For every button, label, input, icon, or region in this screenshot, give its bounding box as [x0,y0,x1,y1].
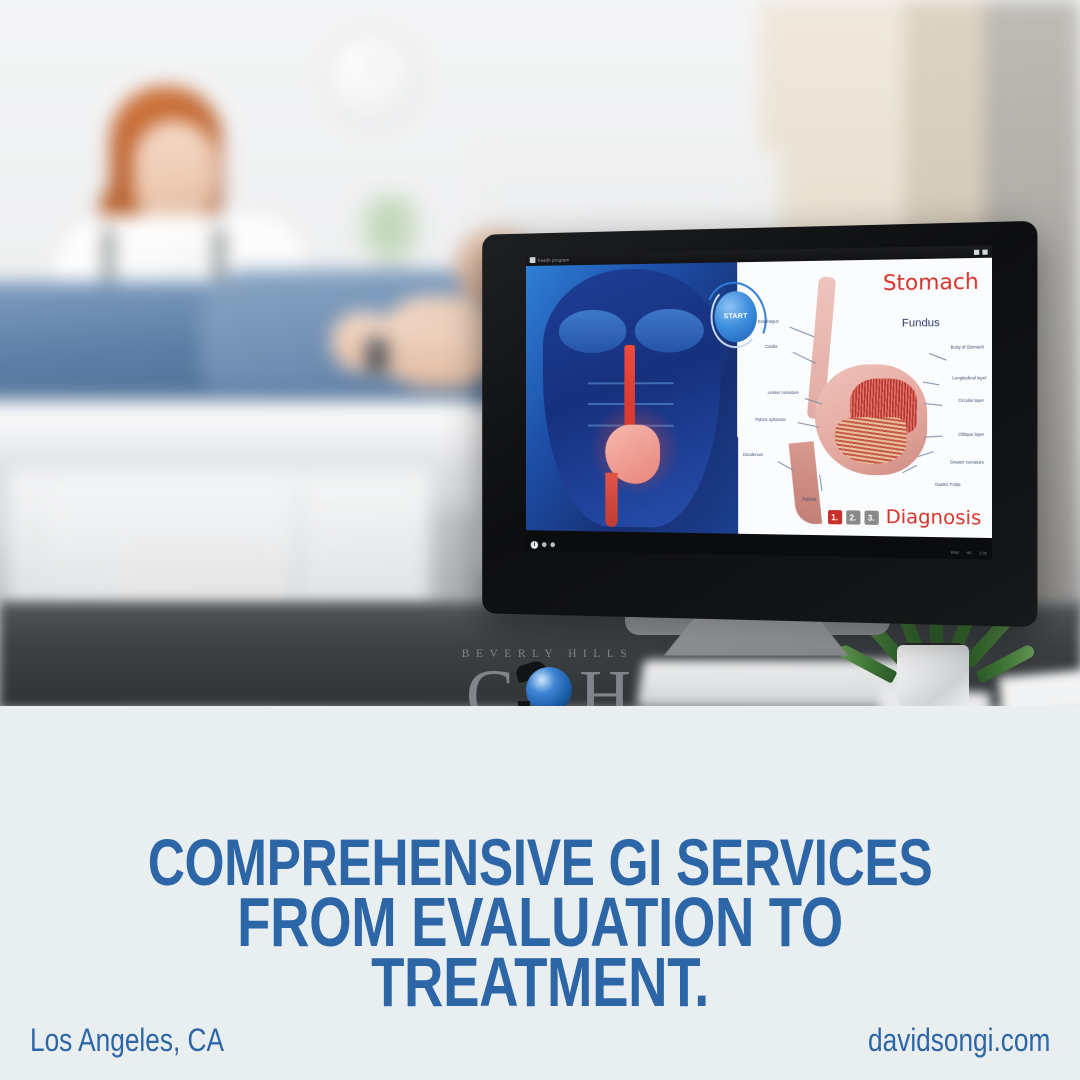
close-icon[interactable] [982,249,987,254]
label-leader-line [924,436,943,438]
monitor-screen[interactable]: health program [526,245,992,559]
stomach-icon-sphere [526,667,572,706]
diagram-label: Esophagus [758,319,779,324]
clinic-photo: health program [0,0,1080,706]
diagram-label: Cardia [765,343,777,348]
footer-bar: Los Angeles, CA davidsongi.com [0,1010,1080,1070]
start-button[interactable]: START [706,281,765,352]
info-icon[interactable]: i [531,540,538,548]
desktop-monitor: health program [470,228,1030,620]
status-tag: HD [966,550,971,554]
poster-canvas: health program [0,0,1080,1080]
diagram-label: Gastric Folds [935,481,961,486]
start-button-label: START [724,313,748,320]
label-leader-line [820,475,823,491]
step-badges[interactable]: 1. 2. 3. [828,510,879,525]
footer-location: Los Angeles, CA [30,1022,224,1059]
start-sphere: START [714,291,756,342]
torso-chest-right [635,309,704,353]
slide-diagnosis-title: Diagnosis [886,506,982,530]
label-leader-line [929,353,947,360]
logo-monogram: C H [460,661,635,706]
step-badge-3[interactable]: 3. [864,511,878,525]
app-icon [530,257,536,263]
status-tags: ENG HD 1:28 [951,550,987,555]
status-tag: ENG [951,550,959,554]
logo-letter-h: H [579,659,631,706]
diagram-label: Body of Stomach [951,345,984,350]
duodenum-illustration [605,473,618,527]
slide-subtitle: Fundus [902,317,940,330]
torso-chest-left [559,310,626,353]
status-tag: 1:28 [979,551,986,555]
diagram-label: Greater curvature [950,459,984,464]
headline: COMPREHENSIVE GI SERVICES FROM EVALUATIO… [119,832,961,1012]
slide-title: Stomach [883,269,979,295]
plant-pot [897,645,969,706]
step-badge-1[interactable]: 1. [828,510,842,524]
message-panel: COMPREHENSIVE GI SERVICES FROM EVALUATIO… [0,706,1080,1080]
diagram-label: Oblique layer [958,431,984,436]
brand-logo: BEVERLY HILLS C H Center for Digestive H… [455,648,640,706]
diagram-label: Lesser curvature [768,390,799,395]
diagram-label: Longitudinal layer [952,375,986,380]
diagram-label: Pylorus [802,497,816,502]
diagram-label: Pyloric sphincter [755,417,786,422]
presentation-slide: START Stomach Fundus Esophagus Cardia [526,258,992,538]
app-title: health program [538,257,569,262]
control-icon-a[interactable] [542,542,547,547]
slide-diagram-panel: START Stomach Fundus Esophagus Cardia [738,258,992,538]
logo-letter-c: C [466,659,514,706]
minimize-icon[interactable] [974,249,979,254]
step-badge-2[interactable]: 2. [846,510,860,524]
control-icon-b[interactable] [550,542,555,547]
window-controls[interactable] [974,249,988,254]
diagram-label: Circular layer [958,398,984,403]
headline-line-2: FROM EVALUATION TO TREATMENT. [119,892,961,1012]
diagram-label: Duodenum [743,452,763,457]
footer-website[interactable]: davidsongi.com [868,1022,1050,1059]
label-leader-line [923,381,939,384]
